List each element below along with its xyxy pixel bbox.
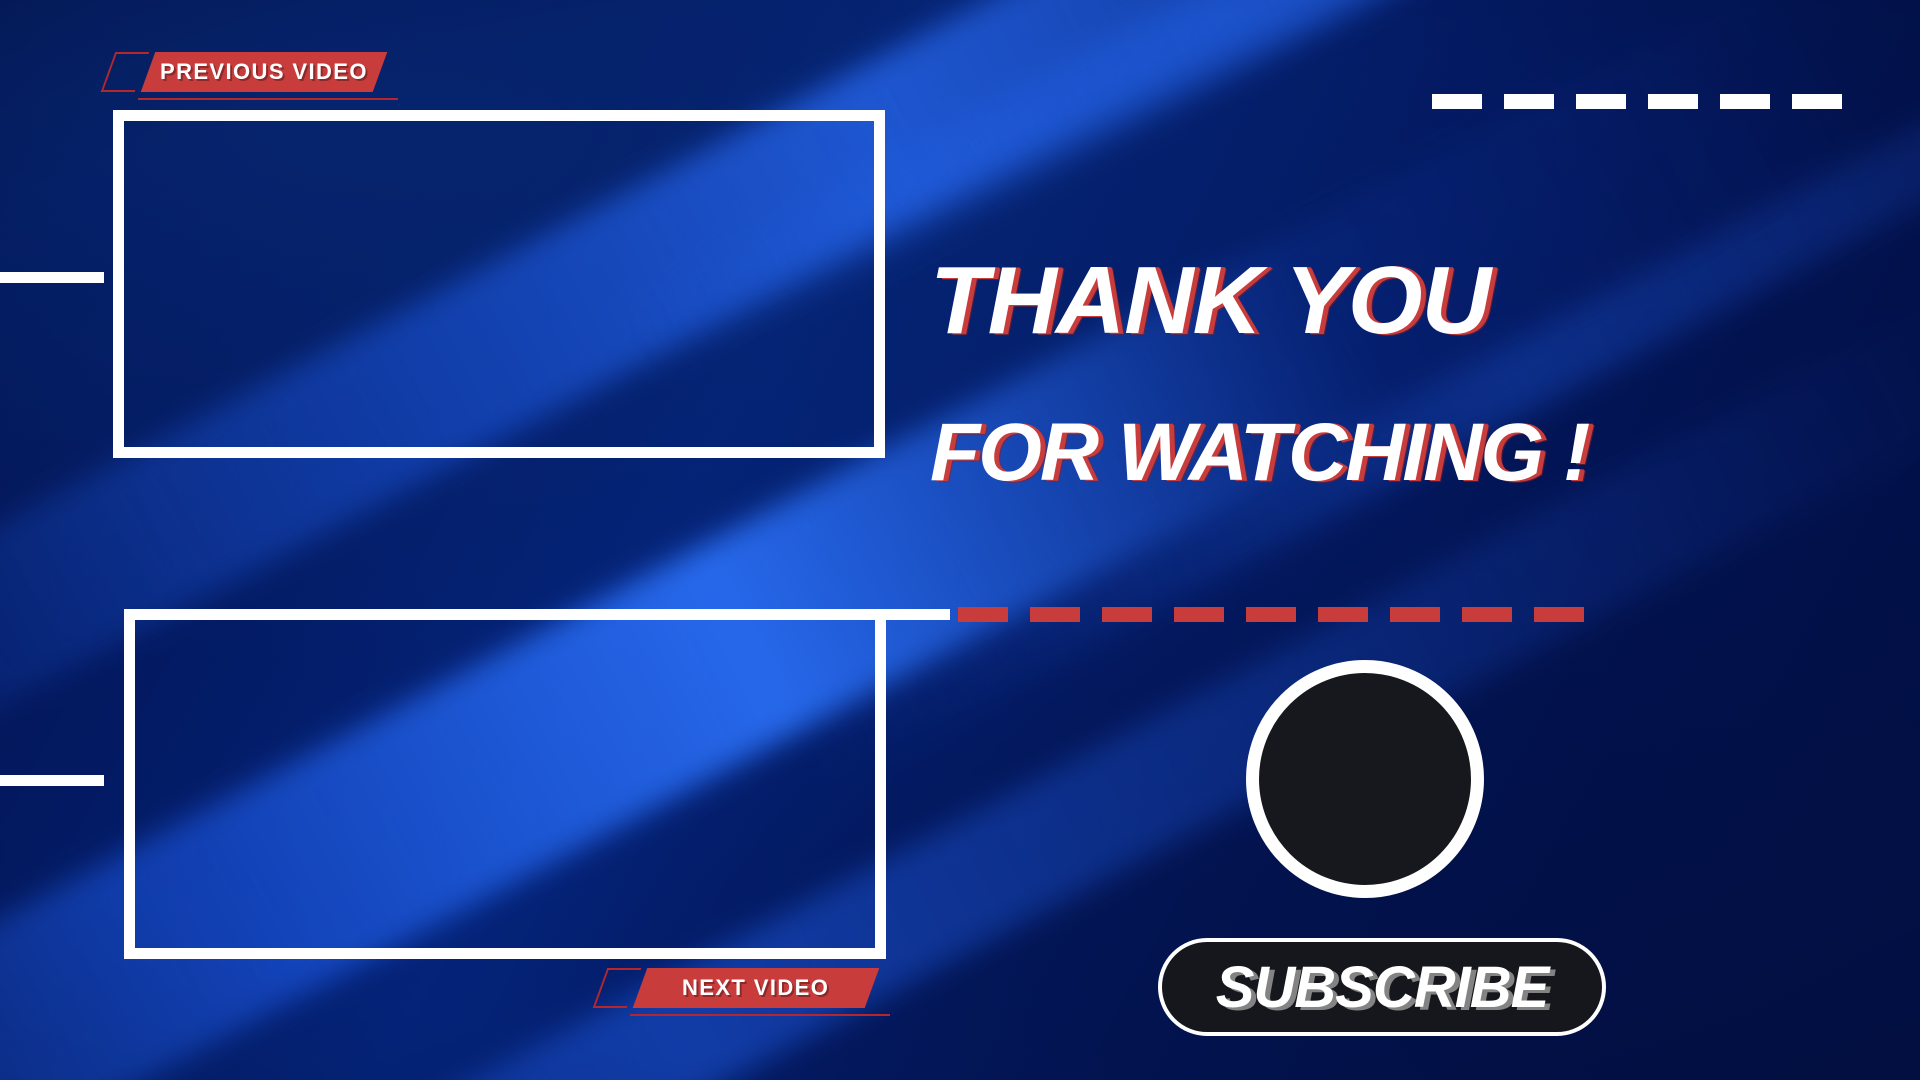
dash-segment: [1648, 94, 1698, 109]
dash-segment: [1534, 607, 1584, 622]
dash-segment: [1432, 94, 1482, 109]
white-dashed-rule: [1432, 94, 1842, 109]
ribbon-underline: [630, 1014, 890, 1016]
dash-segment: [1318, 607, 1368, 622]
ribbon-body: NEXT VIDEO: [633, 968, 880, 1008]
headline-line-for-watching: FOR WATCHING !: [930, 412, 1830, 494]
subscribe-button-label: SUBSCRIBE: [1216, 954, 1549, 1021]
end-screen-canvas: PREVIOUS VIDEO NEXT VIDEO THANK YOU FOR …: [0, 0, 1920, 1080]
frame-connector-bar: [886, 609, 950, 620]
ribbon-body: PREVIOUS VIDEO: [141, 52, 388, 92]
dash-segment: [1720, 94, 1770, 109]
dash-segment: [1246, 607, 1296, 622]
dash-segment: [1174, 607, 1224, 622]
ribbon-label-next: NEXT VIDEO: [682, 975, 829, 1001]
dash-segment: [1030, 607, 1080, 622]
video-slot-next[interactable]: [124, 609, 886, 959]
red-dashed-rule: [958, 607, 1584, 622]
headline-line-thank-you: THANK YOU: [930, 252, 1830, 350]
video-slot-previous[interactable]: [113, 110, 885, 458]
dash-segment: [1504, 94, 1554, 109]
ribbon-label-previous: PREVIOUS VIDEO: [160, 59, 368, 85]
dash-segment: [958, 607, 1008, 622]
dash-segment: [1462, 607, 1512, 622]
ribbon-underline: [138, 98, 398, 100]
dash-segment: [1792, 94, 1842, 109]
headline-block: THANK YOU FOR WATCHING !: [930, 252, 1830, 494]
frame-edge-tick-bottom: [0, 775, 104, 786]
dash-segment: [1390, 607, 1440, 622]
dash-segment: [1576, 94, 1626, 109]
channel-avatar[interactable]: [1246, 660, 1484, 898]
frame-edge-tick-top: [0, 272, 104, 283]
subscribe-button[interactable]: SUBSCRIBE: [1158, 938, 1606, 1036]
dash-segment: [1102, 607, 1152, 622]
